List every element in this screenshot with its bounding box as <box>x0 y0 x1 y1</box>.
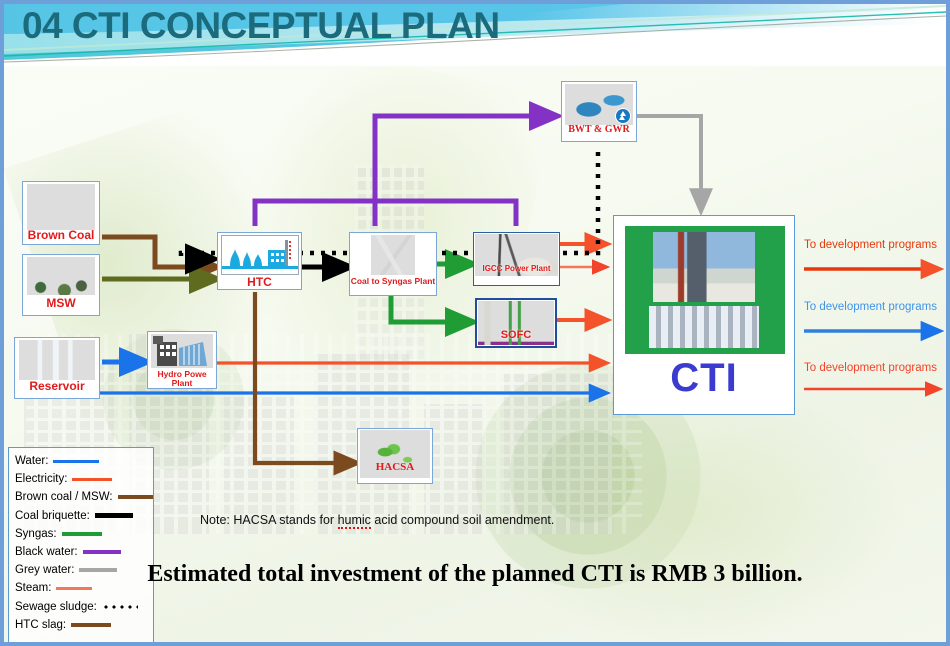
recycle-icon <box>565 84 633 125</box>
syngas-plant-thumbnail <box>371 235 415 275</box>
legend-label: Electricity: <box>15 473 67 485</box>
htc-icon <box>222 236 298 274</box>
htc-thumbnail <box>221 235 299 275</box>
legend-swatch-line <box>71 623 111 627</box>
node-hydro-power-plant[interactable]: Hydro Powe Plant <box>147 331 217 389</box>
legend-row: Coal briquette: <box>15 507 153 525</box>
node-label-hacsa: HACSA <box>358 462 432 474</box>
node-label-hydro: Hydro Powe Plant <box>148 370 216 388</box>
hydro-power-plant-thumbnail <box>151 334 213 368</box>
node-label-htc: HTC <box>218 276 301 289</box>
legend-box: Water:Electricity:Brown coal / MSW:Coal … <box>8 447 154 645</box>
edge-htc-slag-to-hacsa <box>255 292 356 463</box>
legend-swatch-dotted <box>102 605 138 609</box>
legend-swatch-line <box>118 495 153 499</box>
node-label-sofc: SOFC <box>478 330 554 342</box>
node-igcc-power-plant[interactable]: IGCC Power Plant <box>473 232 560 286</box>
investment-statement: Estimated total investment of the planne… <box>4 561 946 588</box>
legend-label: Coal briquette: <box>15 510 90 522</box>
legend-label: Sewage sludge: <box>15 601 97 613</box>
legend-row: Syngas: <box>15 525 153 543</box>
node-reservoir[interactable]: Reservoir <box>14 337 100 399</box>
node-brown-coal[interactable]: Brown Coal <box>22 181 100 245</box>
node-htc[interactable]: HTC <box>217 232 302 290</box>
note-suffix: acid compound soil amendment. <box>371 513 554 527</box>
legend-row: Brown coal / MSW: <box>15 488 153 506</box>
legend-row: Black water: <box>15 543 153 561</box>
legend-label: Syngas: <box>15 528 57 540</box>
node-label-igcc: IGCC Power Plant <box>475 265 558 273</box>
node-label-syngas: Coal to Syngas Plant <box>350 277 436 286</box>
msw-thumbnail <box>27 257 95 295</box>
edge-syngas-to-sofc <box>391 296 472 322</box>
cti-plant-photo <box>653 232 755 302</box>
node-hacsa[interactable]: HACSA <box>357 428 433 484</box>
output-label-3: To development programs <box>804 362 937 374</box>
legend-label: Water: <box>15 455 48 467</box>
note-text: Note: HACSA stands for humic acid compou… <box>200 513 554 527</box>
legend-label: Brown coal / MSW: <box>15 491 113 503</box>
node-bwt-gwr[interactable]: BWT & GWR <box>561 81 637 142</box>
legend-row: Sewage sludge: <box>15 598 153 616</box>
node-msw[interactable]: MSW <box>22 254 100 316</box>
output-label-1: To development programs <box>804 239 937 251</box>
note-misspelled-word: humic <box>338 513 371 529</box>
edge-greywater-to-cti <box>637 116 701 209</box>
legend-label: HTC slag: <box>15 619 66 631</box>
node-coal-to-syngas-plant[interactable]: Coal to Syngas Plant <box>349 232 437 296</box>
bwt-gwr-thumbnail <box>565 84 633 125</box>
node-cti[interactable]: CTI <box>613 215 795 415</box>
slide-root: 04 CTI CONCEPTUAL PLAN <box>0 0 950 646</box>
legend-swatch-line <box>62 532 102 536</box>
cti-equipment-photo <box>649 306 759 348</box>
node-label-brown-coal: Brown Coal <box>23 229 99 242</box>
legend-swatch-line <box>72 478 112 481</box>
legend-swatch-line <box>83 550 121 554</box>
node-label-bwt: BWT & GWR <box>562 125 636 136</box>
legend-swatch-line <box>95 513 133 518</box>
legend-label: Black water: <box>15 546 78 558</box>
legend-row: Water: <box>15 452 153 470</box>
reservoir-thumbnail <box>19 340 95 380</box>
hydro-icon <box>151 334 213 368</box>
edge-blackwater-to-bwt <box>375 116 555 201</box>
output-label-2: To development programs <box>804 301 937 313</box>
legend-row: Electricity: <box>15 470 153 488</box>
node-label-reservoir: Reservoir <box>15 380 99 393</box>
node-label-msw: MSW <box>23 297 99 310</box>
edge-brown-coal-to-htc <box>102 237 216 267</box>
brown-coal-thumbnail <box>27 184 95 230</box>
node-label-cti: CTI <box>614 356 794 401</box>
note-prefix: Note: HACSA stands for <box>200 513 338 527</box>
cti-thumbnail <box>625 226 785 354</box>
legend-swatch-line <box>53 460 99 463</box>
node-sofc[interactable]: SOFC <box>475 298 557 348</box>
legend-row: HTC slag: <box>15 616 153 634</box>
edge-blackwater-bus <box>255 201 516 226</box>
